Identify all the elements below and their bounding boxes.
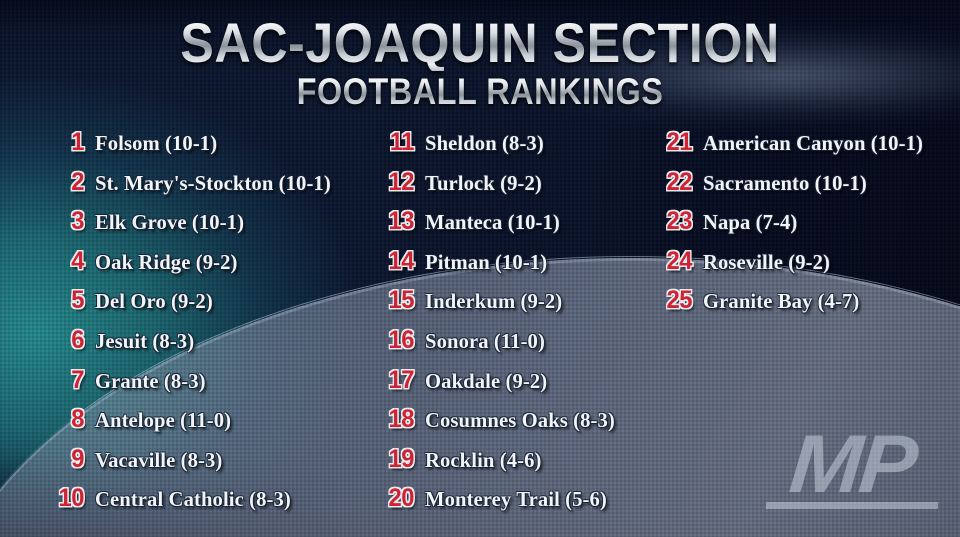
team-name: Turlock (9-2)	[425, 173, 647, 195]
rank-number: 19	[359, 447, 414, 472]
rank-number: 23	[637, 209, 692, 234]
team-name: Cosumnes Oaks (8-3)	[425, 410, 647, 432]
rankings-column-2: 11Sheldon (8-3)12Turlock (9-2)13Manteca …	[356, 130, 656, 526]
rank-number: 14	[359, 249, 414, 274]
rank-number: 17	[359, 368, 414, 393]
rank-number: 10	[29, 486, 84, 511]
ranking-row: 21American Canyon (10-1)	[634, 130, 960, 170]
ranking-row: 7Grante (8-3)	[26, 368, 356, 408]
team-name: Sheldon (8-3)	[425, 133, 647, 155]
ranking-row: 13Manteca (10-1)	[356, 209, 656, 249]
team-name: Oakdale (9-2)	[425, 371, 647, 393]
ranking-row: 24Roseville (9-2)	[634, 249, 960, 289]
ranking-row: 20Monterey Trail (5-6)	[356, 486, 656, 526]
ranking-row: 18Cosumnes Oaks (8-3)	[356, 407, 656, 447]
rank-number: 15	[359, 288, 414, 313]
page-subtitle: FOOTBALL RANKINGS	[58, 73, 903, 112]
team-name: Vacaville (8-3)	[95, 450, 346, 472]
ranking-row: 3Elk Grove (10-1)	[26, 209, 356, 249]
page-title: SAC-JOAQUIN SECTION	[48, 14, 912, 71]
ranking-row: 4Oak Ridge (9-2)	[26, 249, 356, 289]
ranking-row: 23Napa (7-4)	[634, 209, 960, 249]
rank-number: 1	[29, 130, 84, 155]
rank-number: 9	[29, 447, 84, 472]
ranking-row: 14Pitman (10-1)	[356, 249, 656, 289]
rank-number: 12	[359, 170, 414, 195]
team-name: Jesuit (8-3)	[95, 331, 346, 353]
team-name: Grante (8-3)	[95, 371, 346, 393]
ranking-row: 9Vacaville (8-3)	[26, 447, 356, 487]
team-name: Inderkum (9-2)	[425, 291, 647, 313]
ranking-row: 17Oakdale (9-2)	[356, 368, 656, 408]
title-block: SAC-JOAQUIN SECTION FOOTBALL RANKINGS	[0, 14, 960, 112]
rankings-graphic: SAC-JOAQUIN SECTION FOOTBALL RANKINGS 1F…	[0, 0, 960, 537]
team-name: St. Mary's-Stockton (10-1)	[95, 173, 346, 195]
rank-number: 5	[29, 288, 84, 313]
team-name: Sacramento (10-1)	[703, 173, 950, 195]
rank-number: 24	[637, 249, 692, 274]
team-name: Rocklin (4-6)	[425, 450, 647, 472]
ranking-row: 10Central Catholic (8-3)	[26, 486, 356, 526]
ranking-row: 15Inderkum (9-2)	[356, 288, 656, 328]
team-name: Pitman (10-1)	[425, 252, 647, 274]
rank-number: 13	[359, 209, 414, 234]
team-name: Sonora (11-0)	[425, 331, 647, 353]
team-name: Roseville (9-2)	[703, 252, 950, 274]
ranking-row: 12Turlock (9-2)	[356, 170, 656, 210]
rank-number: 11	[359, 130, 414, 155]
rankings-column-1: 1Folsom (10-1)2St. Mary's-Stockton (10-1…	[26, 130, 356, 526]
ranking-row: 22Sacramento (10-1)	[634, 170, 960, 210]
ranking-row: 1Folsom (10-1)	[26, 130, 356, 170]
rank-number: 8	[29, 407, 84, 432]
rank-number: 21	[637, 130, 692, 155]
rank-number: 20	[359, 486, 414, 511]
rank-number: 16	[359, 328, 414, 353]
rank-number: 4	[29, 249, 84, 274]
ranking-row: 25Granite Bay (4-7)	[634, 288, 960, 328]
rank-number: 7	[29, 368, 84, 393]
rank-number: 6	[29, 328, 84, 353]
rank-number: 3	[29, 209, 84, 234]
ranking-row: 8Antelope (11-0)	[26, 407, 356, 447]
team-name: Del Oro (9-2)	[95, 291, 346, 313]
rank-number: 22	[637, 170, 692, 195]
ranking-row: 11Sheldon (8-3)	[356, 130, 656, 170]
rank-number: 2	[29, 170, 84, 195]
ranking-row: 2St. Mary's-Stockton (10-1)	[26, 170, 356, 210]
team-name: Granite Bay (4-7)	[703, 291, 950, 313]
team-name: Monterey Trail (5-6)	[425, 489, 647, 511]
ranking-row: 6Jesuit (8-3)	[26, 328, 356, 368]
rank-number: 18	[359, 407, 414, 432]
team-name: Antelope (11-0)	[95, 410, 346, 432]
team-name: Folsom (10-1)	[95, 133, 346, 155]
team-name: Elk Grove (10-1)	[95, 212, 346, 234]
team-name: Napa (7-4)	[703, 212, 950, 234]
rank-number: 25	[637, 288, 692, 313]
team-name: Manteca (10-1)	[425, 212, 647, 234]
ranking-row: 19Rocklin (4-6)	[356, 447, 656, 487]
team-name: Oak Ridge (9-2)	[95, 252, 346, 274]
team-name: American Canyon (10-1)	[703, 133, 950, 155]
rankings-column-3: 21American Canyon (10-1)22Sacramento (10…	[634, 130, 960, 328]
ranking-row: 16Sonora (11-0)	[356, 328, 656, 368]
team-name: Central Catholic (8-3)	[95, 489, 346, 511]
ranking-row: 5Del Oro (9-2)	[26, 288, 356, 328]
